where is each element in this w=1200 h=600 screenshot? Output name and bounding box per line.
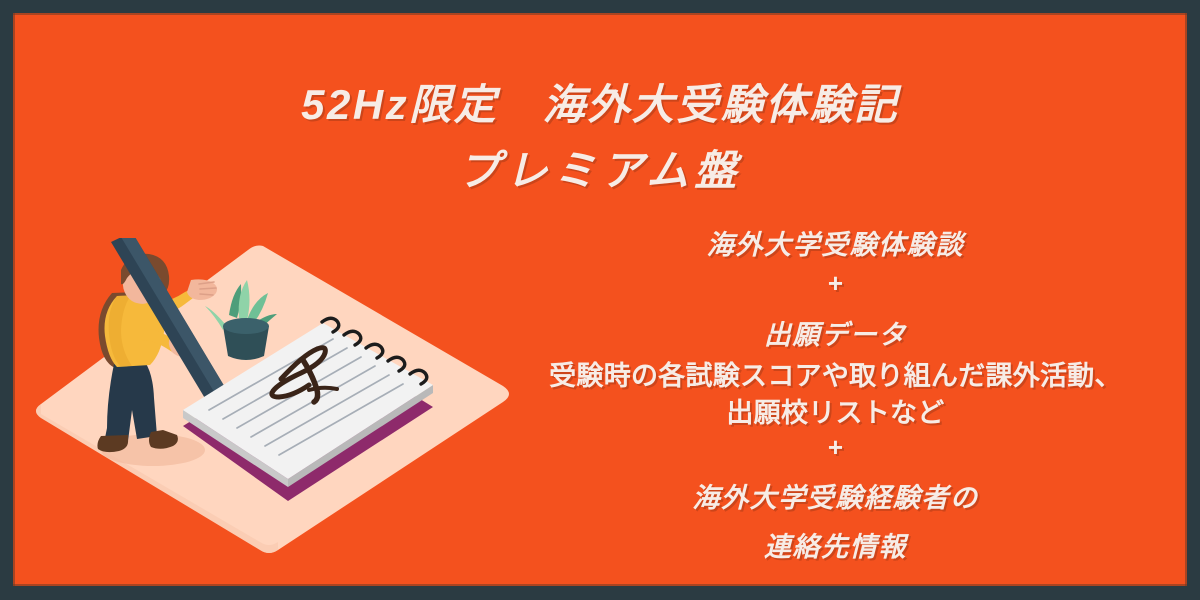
content-item-application-data: 出願データ — [458, 313, 1187, 352]
poster-canvas: 52Hz限定 海外大受験体験記 プレミアム盤 海外大学受験体験談 + 出願データ… — [13, 13, 1187, 586]
content-item-overseas-exam-story: 海外大学受験体験談 — [458, 223, 1187, 262]
content-item-experienced-contacts-line-1: 海外大学受験経験者の — [458, 476, 1187, 515]
poster-title-line-2: プレミアム盤 — [13, 137, 1187, 198]
poster: 52Hz限定 海外大受験体験記 プレミアム盤 海外大学受験体験談 + 出願データ… — [0, 0, 1200, 600]
content-separator-plus-2: + — [458, 432, 1187, 463]
illustration-person-signing-notebook — [33, 238, 513, 586]
plant-pot-rim — [223, 318, 269, 334]
frame-seam-top — [13, 13, 1187, 15]
content-separator-plus-1: + — [458, 268, 1187, 299]
poster-title-line-1: 52Hz限定 海外大受験体験記 — [13, 71, 1187, 132]
content-detail-school-list: 出願校リストなど — [458, 391, 1187, 430]
content-item-experienced-contacts-line-2: 連絡先情報 — [458, 525, 1187, 564]
content-detail-scores-activities: 受験時の各試験スコアや取り組んだ課外活動、 — [458, 354, 1187, 393]
